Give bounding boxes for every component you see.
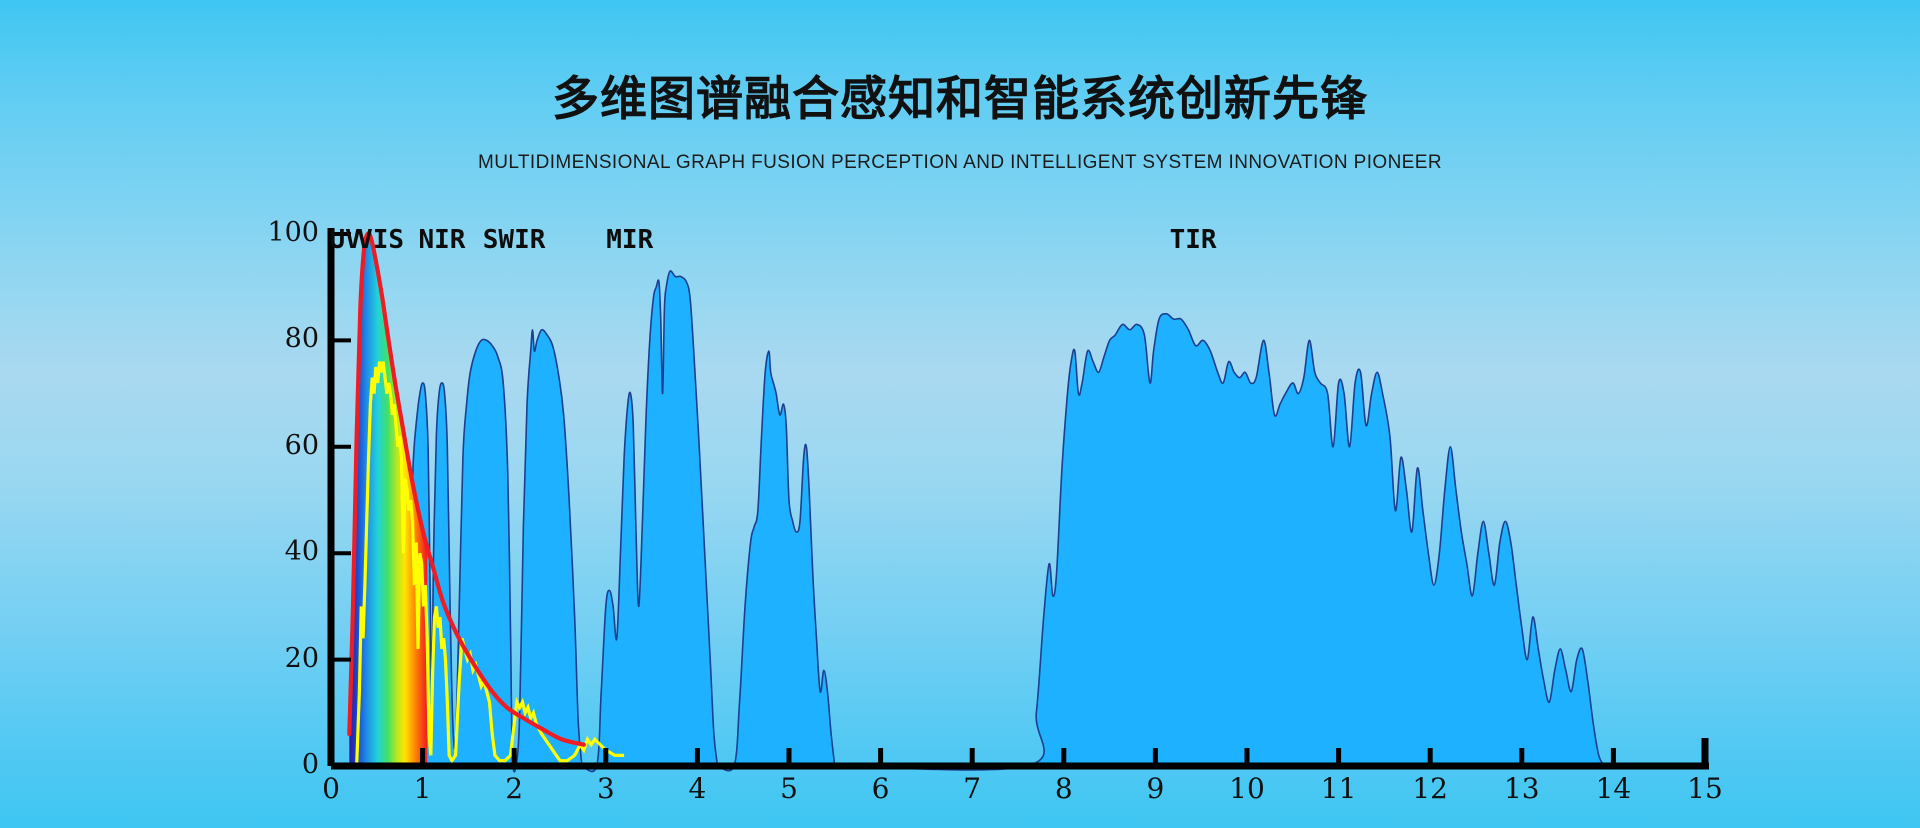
x-tick-label-9: 9: [1130, 772, 1180, 805]
x-tick-label-14: 14: [1588, 772, 1638, 805]
x-tick-label-4: 4: [672, 772, 722, 805]
band-label-tir: TIR: [1170, 225, 1217, 255]
y-tick-label-40: 40: [259, 536, 319, 567]
transmission-bands: [355, 271, 1604, 772]
x-tick-label-2: 2: [489, 772, 539, 805]
x-tick-label-11: 11: [1314, 772, 1364, 805]
x-tick-label-15: 15: [1680, 772, 1730, 805]
x-tick-label-13: 13: [1497, 772, 1547, 805]
x-tick-label-0: 0: [306, 772, 356, 805]
x-tick-label-7: 7: [947, 772, 997, 805]
y-tick-label-100: 100: [259, 217, 319, 248]
transmission-band-2: [718, 351, 835, 771]
y-tick-label-60: 60: [259, 430, 319, 461]
spectrum-chart: [0, 0, 1920, 828]
poster-canvas: 多维图谱融合感知和智能系统创新先锋 MULTIDIMENSIONAL GRAPH…: [0, 0, 1920, 828]
x-tick-label-8: 8: [1039, 772, 1089, 805]
x-tick-label-1: 1: [398, 772, 448, 805]
band-label-uv: UV: [329, 225, 360, 255]
x-tick-label-3: 3: [581, 772, 631, 805]
band-label-mir: MIR: [606, 225, 653, 255]
band-label-vis: VIS: [357, 225, 404, 255]
x-tick-label-5: 5: [764, 772, 814, 805]
band-label-nir: NIR: [419, 225, 466, 255]
x-tick-label-10: 10: [1222, 772, 1272, 805]
y-tick-label-80: 80: [259, 323, 319, 354]
transmission-band-3: [835, 314, 1604, 770]
x-tick-label-6: 6: [856, 772, 906, 805]
transmission-band-1: [582, 271, 718, 772]
x-tick-label-12: 12: [1405, 772, 1455, 805]
y-tick-label-20: 20: [259, 643, 319, 674]
band-label-swir: SWIR: [483, 225, 546, 255]
